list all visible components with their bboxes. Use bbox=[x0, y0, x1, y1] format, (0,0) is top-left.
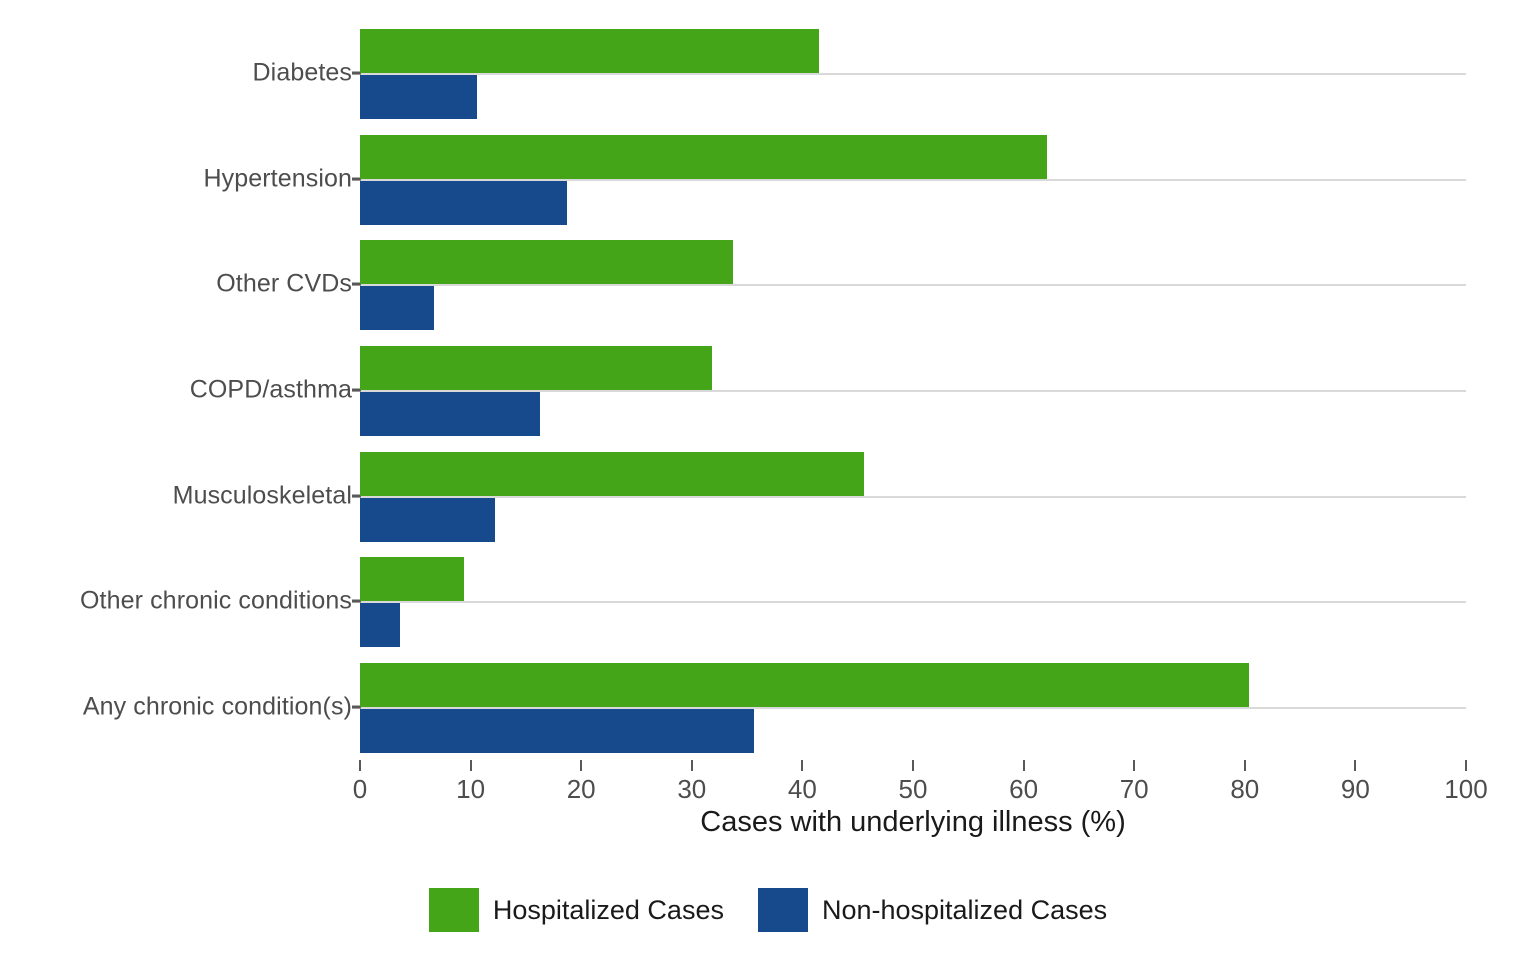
y-axis-label: Any chronic condition(s) bbox=[0, 693, 352, 722]
x-axis-tick bbox=[1023, 760, 1025, 771]
y-axis-label: Other CVDs bbox=[0, 270, 352, 299]
x-axis-tick-label: 40 bbox=[788, 774, 817, 805]
y-axis-label: COPD/asthma bbox=[0, 375, 352, 404]
y-axis-label: Musculoskeletal bbox=[0, 481, 352, 510]
legend-item-hospitalized: Hospitalized Cases bbox=[429, 888, 724, 932]
bar-non-hospitalized bbox=[360, 286, 434, 330]
legend-swatch-icon bbox=[429, 888, 479, 932]
x-axis-tick bbox=[359, 760, 361, 771]
x-axis-tick-label: 30 bbox=[677, 774, 706, 805]
bar-non-hospitalized bbox=[360, 709, 754, 753]
x-axis-tick bbox=[691, 760, 693, 771]
category-row: Hypertension bbox=[360, 126, 1466, 232]
legend-label: Non-hospitalized Cases bbox=[822, 895, 1107, 926]
y-axis-label: Hypertension bbox=[0, 164, 352, 193]
x-axis-tick-label: 70 bbox=[1120, 774, 1149, 805]
x-axis-title: Cases with underlying illness (%) bbox=[360, 806, 1466, 839]
x-axis-tick bbox=[470, 760, 472, 771]
plot-area: Diabetes Hypertension Other CVDs COPD/as… bbox=[360, 20, 1466, 760]
category-row: Other chronic conditions bbox=[360, 549, 1466, 655]
bar-hospitalized bbox=[360, 346, 712, 390]
x-axis-tick bbox=[580, 760, 582, 771]
x-axis-tick-label: 100 bbox=[1444, 774, 1487, 805]
bar-hospitalized bbox=[360, 557, 464, 601]
x-axis-tick bbox=[801, 760, 803, 771]
y-axis-label: Diabetes bbox=[0, 58, 352, 87]
category-row: Any chronic condition(s) bbox=[360, 654, 1466, 760]
bar-non-hospitalized bbox=[360, 392, 540, 436]
category-row: Diabetes bbox=[360, 20, 1466, 126]
category-row: COPD/asthma bbox=[360, 337, 1466, 443]
bar-non-hospitalized bbox=[360, 498, 495, 542]
bar-non-hospitalized bbox=[360, 181, 567, 225]
category-row: Other CVDs bbox=[360, 231, 1466, 337]
x-axis-tick-label: 0 bbox=[353, 774, 367, 805]
x-axis-tick-label: 60 bbox=[1009, 774, 1038, 805]
x-axis-tick bbox=[1133, 760, 1135, 771]
bar-hospitalized bbox=[360, 240, 733, 284]
gridline bbox=[352, 496, 1466, 498]
legend-swatch-icon bbox=[758, 888, 808, 932]
bar-non-hospitalized bbox=[360, 603, 400, 647]
bar-hospitalized bbox=[360, 135, 1047, 179]
x-axis-tick-label: 90 bbox=[1341, 774, 1370, 805]
x-axis-tick-label: 10 bbox=[456, 774, 485, 805]
y-axis-label: Other chronic conditions bbox=[0, 587, 352, 616]
x-axis-tick-label: 50 bbox=[899, 774, 928, 805]
gridline bbox=[352, 73, 1466, 75]
x-axis-tick-label: 20 bbox=[567, 774, 596, 805]
bar-hospitalized bbox=[360, 29, 819, 73]
legend-label: Hospitalized Cases bbox=[493, 895, 724, 926]
bar-non-hospitalized bbox=[360, 75, 477, 119]
x-axis-tick bbox=[1465, 760, 1467, 771]
x-axis-tick bbox=[1244, 760, 1246, 771]
x-axis-tick bbox=[912, 760, 914, 771]
legend-item-non-hospitalized: Non-hospitalized Cases bbox=[758, 888, 1107, 932]
grouped-bar-chart: Diabetes Hypertension Other CVDs COPD/as… bbox=[0, 0, 1536, 960]
bar-hospitalized bbox=[360, 452, 864, 496]
gridline bbox=[352, 601, 1466, 603]
gridline bbox=[352, 284, 1466, 286]
category-row: Musculoskeletal bbox=[360, 443, 1466, 549]
x-axis-tick-label: 80 bbox=[1230, 774, 1259, 805]
legend: Hospitalized Cases Non-hospitalized Case… bbox=[0, 888, 1536, 932]
bar-hospitalized bbox=[360, 663, 1249, 707]
x-axis-tick bbox=[1354, 760, 1356, 771]
